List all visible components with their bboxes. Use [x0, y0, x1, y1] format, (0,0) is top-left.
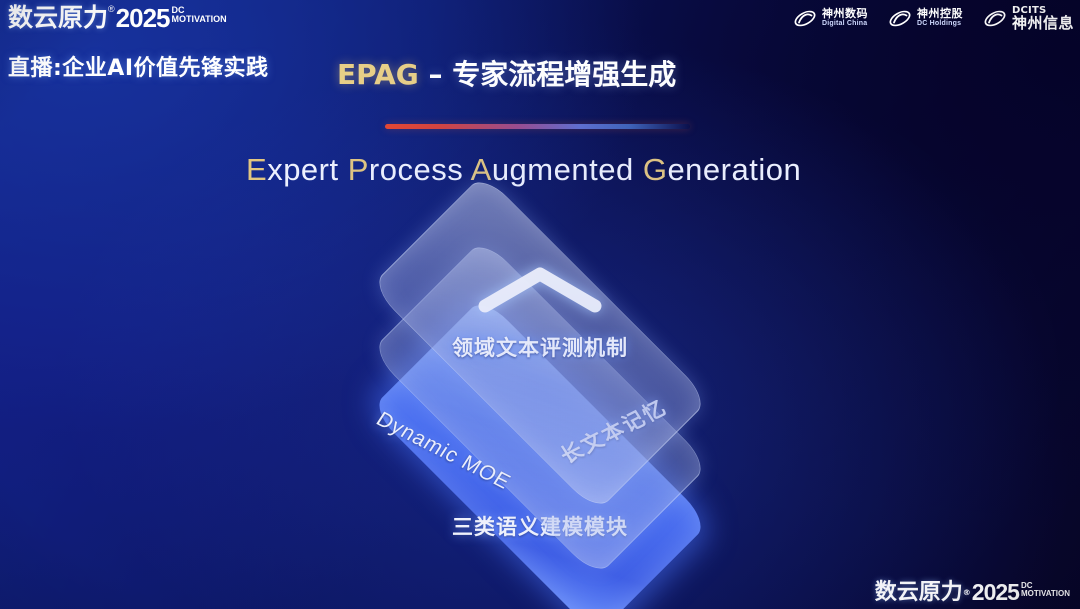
page-title-rest: – 专家流程增强生成	[419, 58, 677, 91]
brand-logo-row: 神州数码 Digital China 神州控股 DC Holdings	[793, 5, 1074, 31]
brand-digital-china: 神州数码 Digital China	[793, 8, 868, 29]
event-logo-dcm: DC MOTIVATION	[172, 6, 227, 24]
watermark-motivation: MOTIVATION	[1021, 590, 1070, 598]
watermark-year: 2025	[972, 580, 1019, 605]
event-logo-cn: 数云原力	[8, 4, 108, 32]
watermark-dcm: DC MOTIVATION	[1021, 582, 1070, 598]
event-logo-year: 2025	[116, 4, 170, 32]
event-logo-motivation: MOTIVATION	[172, 15, 227, 24]
brand-name-en: Digital China	[822, 20, 868, 28]
layer-label-top: 领域文本评测机制	[452, 332, 628, 362]
brand-dc-holdings: 神州控股 DC Holdings	[888, 8, 963, 29]
subtitle-initial-g: G	[643, 152, 668, 187]
slide-canvas: 数云原力 ® 2025 DC MOTIVATION 直播:企业AI价值先锋实践 …	[0, 0, 1080, 609]
footer-watermark-logo: 数云原力 ® 2025 DC MOTIVATION	[875, 580, 1070, 605]
brand-name-en: DC Holdings	[917, 20, 963, 28]
subtitle-word-augmented: ugmented	[492, 152, 643, 187]
event-logo: 数云原力 ® 2025 DC MOTIVATION	[8, 4, 227, 32]
page-title: EPAG – 专家流程增强生成	[337, 53, 676, 93]
watermark-registered: ®	[963, 580, 971, 605]
watermark-cn: 数云原力	[875, 580, 963, 605]
page-subtitle: Expert Process Augmented Generation	[246, 152, 801, 188]
layered-architecture-diagram: 三类语义建模模块 Dynamic MOE 长文本记忆 领域文本评测机制	[290, 228, 790, 588]
title-divider	[385, 124, 690, 129]
brand-dcits: DCITS 神州信息	[983, 5, 1074, 31]
brand-text: 神州数码 Digital China	[822, 8, 868, 28]
brand-name-cn: 神州数码	[822, 8, 868, 20]
brand-name-cn: 神州信息	[1012, 16, 1074, 31]
subtitle-word-expert: xpert	[267, 152, 348, 187]
brand-text: DCITS 神州信息	[1012, 5, 1074, 31]
live-stream-title: 直播:企业AI价值先锋实践	[8, 50, 269, 82]
swirl-logo-icon	[888, 8, 912, 29]
swirl-logo-icon	[793, 8, 817, 29]
subtitle-initial-e: E	[246, 152, 267, 187]
brand-name-cn: 神州控股	[917, 8, 963, 20]
page-title-abbr: EPAG	[337, 58, 419, 91]
swirl-logo-icon	[983, 8, 1007, 29]
subtitle-word-generation: eneration	[667, 152, 801, 187]
brand-text: 神州控股 DC Holdings	[917, 8, 963, 28]
registered-mark: ®	[108, 4, 115, 14]
diagram-layer-top[interactable]: 领域文本评测机制	[290, 228, 790, 588]
subtitle-word-process: rocess	[369, 152, 471, 187]
subtitle-initial-p: P	[348, 152, 369, 187]
